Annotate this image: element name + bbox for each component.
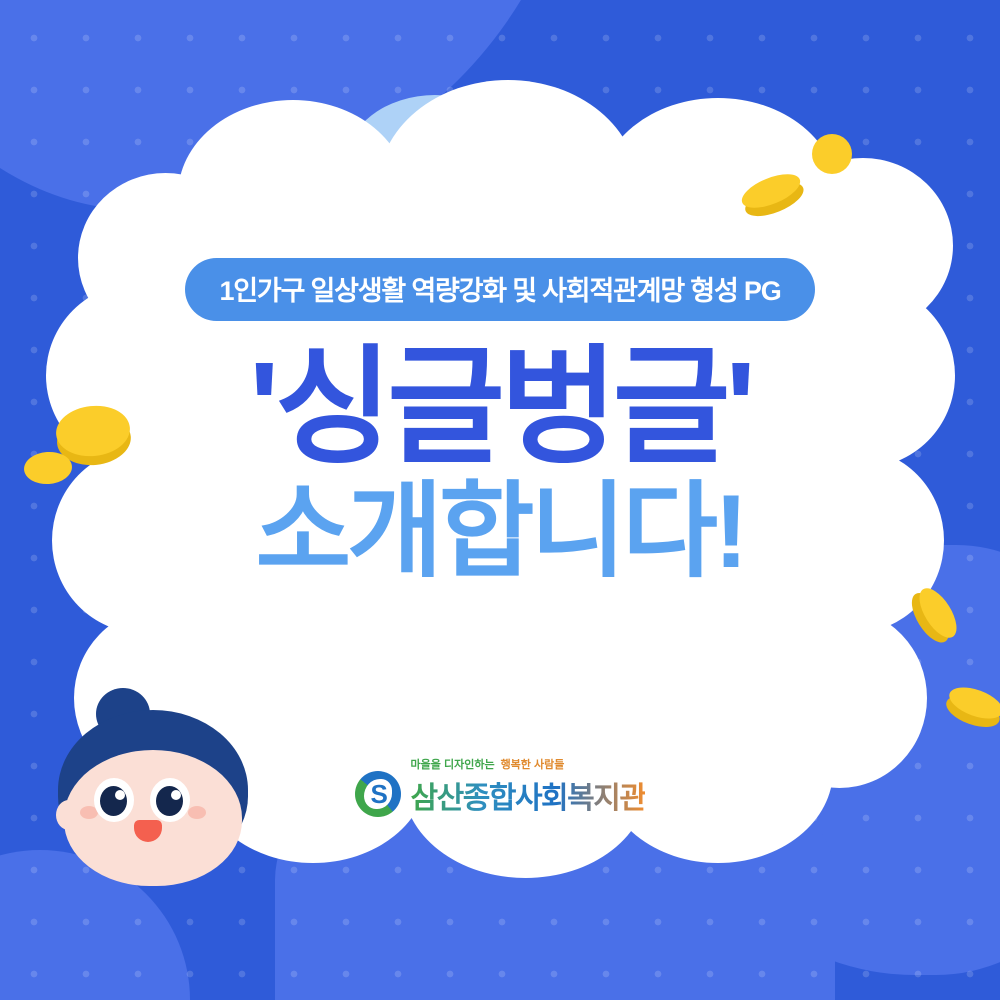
logo-tagline-green: 마을을 디자인하는 xyxy=(411,756,495,772)
logo-letter: S xyxy=(371,780,387,808)
logo-mark-icon: S xyxy=(355,771,401,817)
mascot-eye-left xyxy=(94,778,134,822)
poster-title-line-1: '싱글벙글' xyxy=(249,339,751,477)
mascot-eye-right xyxy=(150,778,190,822)
mascot-character xyxy=(36,688,248,878)
mascot-eye-glint xyxy=(115,790,125,800)
mascot-eye-glint xyxy=(171,790,181,800)
organization-name: 삼산종합사회복지관 xyxy=(411,773,646,817)
mascot-pupil xyxy=(156,786,183,816)
logo-text-block: 마을을 디자인하는 행복한 사람들 삼산종합사회복지관 xyxy=(411,756,646,817)
poster-content: 1인가구 일상생활 역량강화 및 사회적관계망 형성 PG '싱글벙글' 소개합… xyxy=(0,118,1000,590)
poster-canvas: 1인가구 일상생활 역량강화 및 사회적관계망 형성 PG '싱글벙글' 소개합… xyxy=(0,0,1000,1000)
mascot-pupil xyxy=(100,786,127,816)
program-badge: 1인가구 일상생활 역량강화 및 사회적관계망 형성 PG xyxy=(185,258,814,321)
logo-tagline-orange: 행복한 사람들 xyxy=(501,756,565,772)
mascot-cheek-right xyxy=(188,806,206,819)
poster-title-line-2: 소개합니다! xyxy=(255,475,744,589)
logo-tagline: 마을을 디자인하는 행복한 사람들 xyxy=(411,756,646,772)
